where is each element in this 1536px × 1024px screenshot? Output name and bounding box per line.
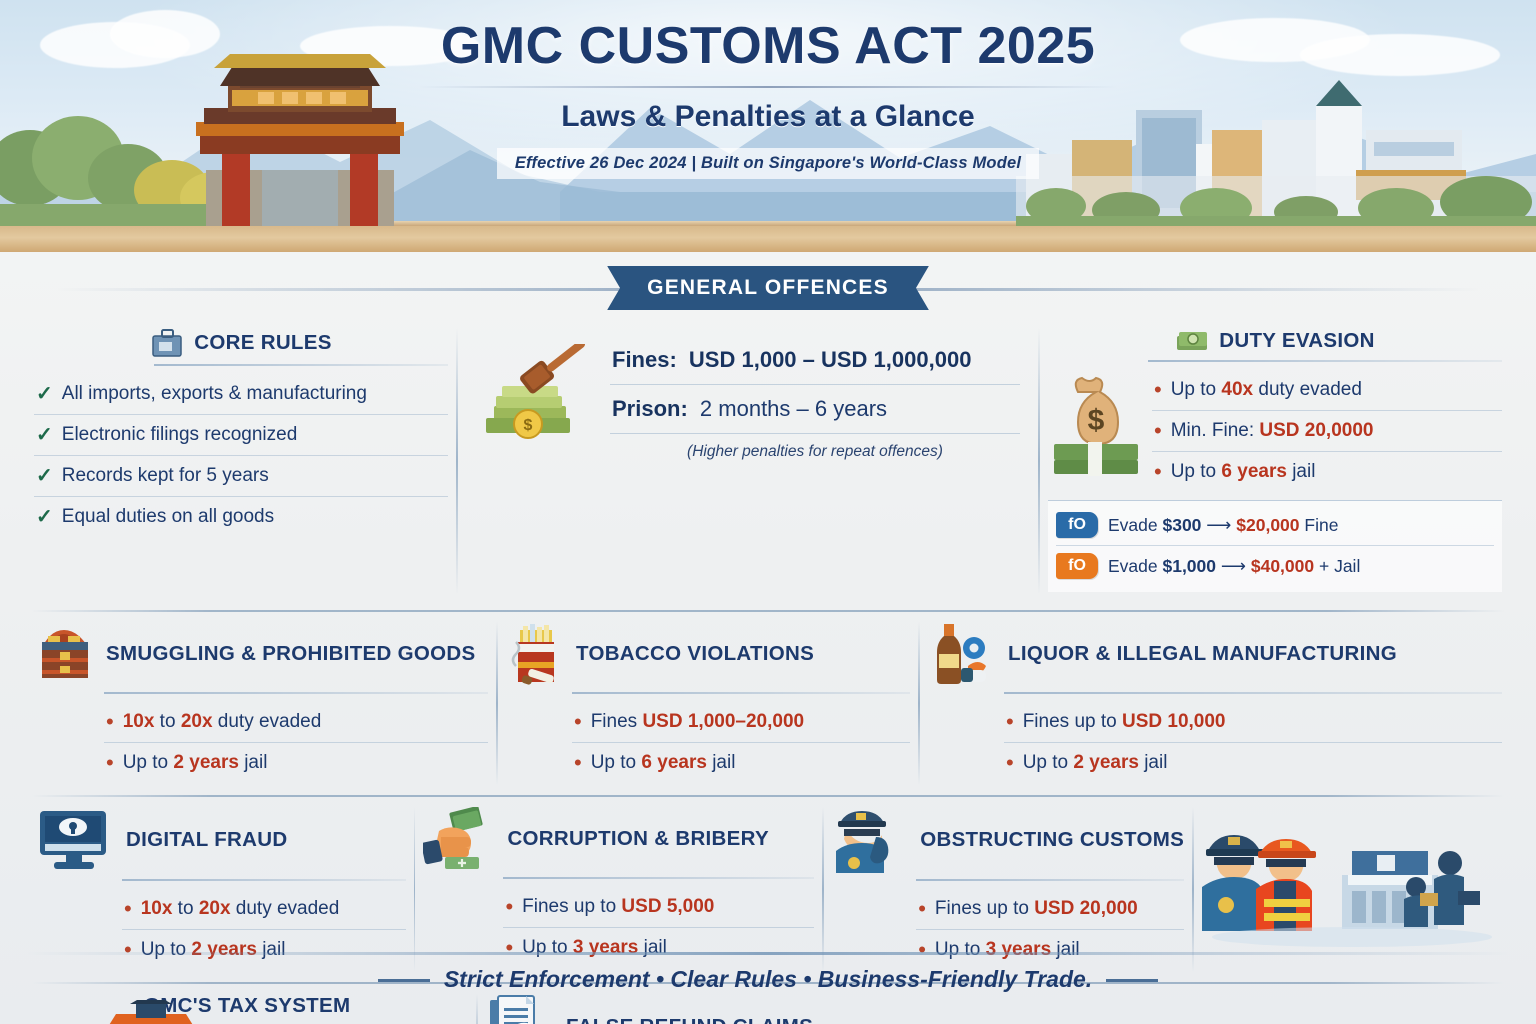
title-underline [1148,360,1502,362]
fines-value: USD 1,000 – USD 1,000,000 [689,347,972,372]
list-item-label: All imports, exports & manufacturing [62,383,367,405]
prison-line: Prison: 2 months – 6 years [610,384,1020,433]
bullet-icon: • [918,898,926,920]
svg-text:$: $ [1088,404,1105,437]
check-icon: ✓ [36,466,53,486]
liquor-list: • Fines up to USD 10,000 • Up to 2 years… [1004,702,1502,783]
row-1: CORE RULES ✓All imports, exports & manuf… [26,318,1510,604]
general-offences-lines: Fines: USD 1,000 – USD 1,000,000 Prison:… [610,336,1020,461]
list-item-label: Fines up to USD 5,000 [522,896,714,918]
example-text: Evade $300 ⟶ $20,000 Fine [1108,515,1338,536]
row-2: SMUGGLING & PROHIBITED GOODS • 10x to 20… [26,612,1510,795]
list-item: ✓Equal duties on all goods [34,496,448,537]
example-text: Evade $1,000 ⟶ $40,000 + Jail [1108,556,1360,577]
list-item-label: Up to 6 years jail [591,752,736,774]
list-item: • Up to 2 years jail [104,742,488,783]
card-smuggling: SMUGGLING & PROHIBITED GOODS • 10x to 20… [26,612,496,795]
footer: Strict Enforcement • Clear Rules • Busin… [0,952,1536,1024]
bullet-icon: • [1154,420,1162,442]
title-underline [916,879,1184,881]
list-item-label: Fines USD 1,000–20,000 [591,711,804,733]
dash-decoration [1106,979,1158,982]
card-title-smuggling: SMUGGLING & PROHIBITED GOODS [106,642,475,666]
title-underline [122,879,406,881]
title-divider [418,86,1118,88]
list-item-label: Fines up to USD 10,000 [1023,711,1226,733]
tobacco-list: • Fines USD 1,000–20,000 • Up to 6 years… [572,702,910,783]
card-general-offences: $ Fines: USD 1,000 – USD 1,000,000 [458,318,1038,604]
list-item-label: Up to 6 years jail [1171,461,1316,483]
header-banner: GMC CUSTOMS ACT 2025 Laws & Penalties at… [0,0,1536,252]
svg-text:$: $ [524,417,533,434]
title-underline [1004,692,1502,694]
bullet-icon: • [106,711,114,733]
list-item-label: 10x to 20x duty evaded [123,711,322,733]
core-rules-list: ✓All imports, exports & manufacturing ✓E… [34,374,448,537]
check-icon: ✓ [36,425,53,445]
duty-evasion-examples: fO Evade $300 ⟶ $20,000 Fine fO Evade $1… [1048,500,1502,592]
fines-label: Fines: [612,347,677,372]
example-row: fO Evade $300 ⟶ $20,000 Fine [1056,505,1494,545]
title-underline [154,364,448,366]
customs-officer-icon [832,807,910,873]
page-subtitle: Laws & Penalties at a Glance [0,100,1536,134]
prison-value: 2 months – 6 years [700,396,887,421]
bullet-icon: • [574,752,582,774]
bullet-icon: • [1154,461,1162,483]
fines-line: Fines: USD 1,000 – USD 1,000,000 [610,336,1020,384]
list-item-label: 10x to 20x duty evaded [141,898,340,920]
page-title: GMC CUSTOMS ACT 2025 [0,16,1536,76]
list-item-label: Records kept for 5 years [62,465,269,487]
card-title-corruption: CORRUPTION & BRIBERY [507,827,769,851]
svg-text:✚: ✚ [458,858,467,870]
list-item-label: Up to 2 years jail [1023,752,1168,774]
card-title-tobacco: TOBACCO VIOLATIONS [576,642,814,666]
money-bag-icon: $ [1048,372,1144,480]
card-title-liquor: LIQUOR & ILLEGAL MANUFACTURING [1008,642,1397,666]
infographic-page: GMC CUSTOMS ACT 2025 Laws & Penalties at… [0,0,1536,1024]
price-tag-icon: fO [1056,512,1098,538]
list-item-label: Up to 40x duty evaded [1171,379,1362,401]
enforcement-officers-illustration [1202,829,1502,949]
list-item-label: Fines up to USD 20,000 [935,898,1138,920]
content-area: GENERAL OFFENCES CORE RULES ✓All import [0,266,1536,1024]
card-title-digital-fraud: DIGITAL FRAUD [126,828,287,852]
card-liquor: LIQUOR & ILLEGAL MANUFACTURING • Fines u… [920,612,1510,795]
list-item: ✓Electronic filings recognized [34,414,448,455]
card-title-core-rules: CORE RULES [194,331,331,355]
gavel-and-money-icon: $ [476,344,596,454]
hand-holding-cash-icon: ✚ [423,807,497,871]
cigarette-pack-icon [506,622,566,686]
check-icon: ✓ [36,384,53,404]
card-core-rules: CORE RULES ✓All imports, exports & manuf… [26,318,456,604]
list-item-label: Min. Fine: USD 20,0000 [1171,420,1374,442]
list-item: • Up to 2 years jail [1004,742,1502,783]
footer-tagline-wrap: Strict Enforcement • Clear Rules • Busin… [0,966,1536,993]
list-item: ✓Records kept for 5 years [34,455,448,496]
title-underline [572,692,910,694]
list-item: • Fines up to USD 5,000 [503,887,814,927]
list-item: • Up to 6 years jail [572,742,910,783]
prison-label: Prison: [612,396,688,421]
example-row: fO Evade $1,000 ⟶ $40,000 + Jail [1056,545,1494,586]
duty-evasion-list: • Up to 40x duty evaded • Min. Fine: USD… [1152,370,1502,492]
bullet-icon: • [106,752,114,774]
repeat-offences-note: (Higher penalties for repeat offences) [610,433,1020,461]
card-title-duty-evasion: DUTY EVASION [1219,329,1374,353]
title-underline [104,692,488,694]
list-item: • Fines up to USD 20,000 [916,889,1184,929]
list-item-label: Equal duties on all goods [62,506,274,528]
treasure-chest-icon [34,622,96,686]
bullet-icon: • [124,898,132,920]
list-item: • Up to 40x duty evaded [1152,370,1502,410]
list-item: • Up to 6 years jail [1152,451,1502,492]
general-offences-banner: GENERAL OFFENCES [607,266,929,310]
list-item-label: Electronic filings recognized [62,424,298,446]
bullet-icon: • [1154,379,1162,401]
bullet-icon: • [1006,752,1014,774]
footer-tagline: Strict Enforcement • Clear Rules • Busin… [444,966,1092,992]
list-item-label: Up to 2 years jail [123,752,268,774]
smuggling-list: • 10x to 20x duty evaded • Up to 2 years… [104,702,488,783]
list-item: • Fines USD 1,000–20,000 [572,702,910,742]
ground-band [0,226,1536,252]
title-underline [503,877,814,879]
list-item: • Fines up to USD 10,000 [1004,702,1502,742]
general-offences-banner-row: GENERAL OFFENCES [26,266,1510,320]
footer-divider [26,952,1510,955]
bullet-icon: • [1006,711,1014,733]
check-icon: ✓ [36,507,53,527]
effective-date-badge: Effective 26 Dec 2024 | Built on Singapo… [497,148,1039,179]
liquor-bottle-gear-icon [928,622,998,686]
price-tag-icon: fO [1056,553,1098,579]
list-item: ✓All imports, exports & manufacturing [34,374,448,414]
dash-decoration [378,979,430,982]
card-tobacco: TOBACCO VIOLATIONS • Fines USD 1,000–20,… [498,612,918,795]
bullet-icon: • [574,711,582,733]
monitor-lock-icon [34,807,116,873]
card-duty-evasion: DUTY EVASION $ • Up to [1040,318,1510,604]
card-title-obstructing: OBSTRUCTING CUSTOMS [920,828,1184,852]
cash-stack-icon [1175,328,1209,354]
list-item: • 10x to 20x duty evaded [122,889,406,929]
list-item: • 10x to 20x duty evaded [104,702,488,742]
briefcase-icon [150,328,184,358]
list-item: • Min. Fine: USD 20,0000 [1152,410,1502,451]
bullet-icon: • [505,896,513,918]
